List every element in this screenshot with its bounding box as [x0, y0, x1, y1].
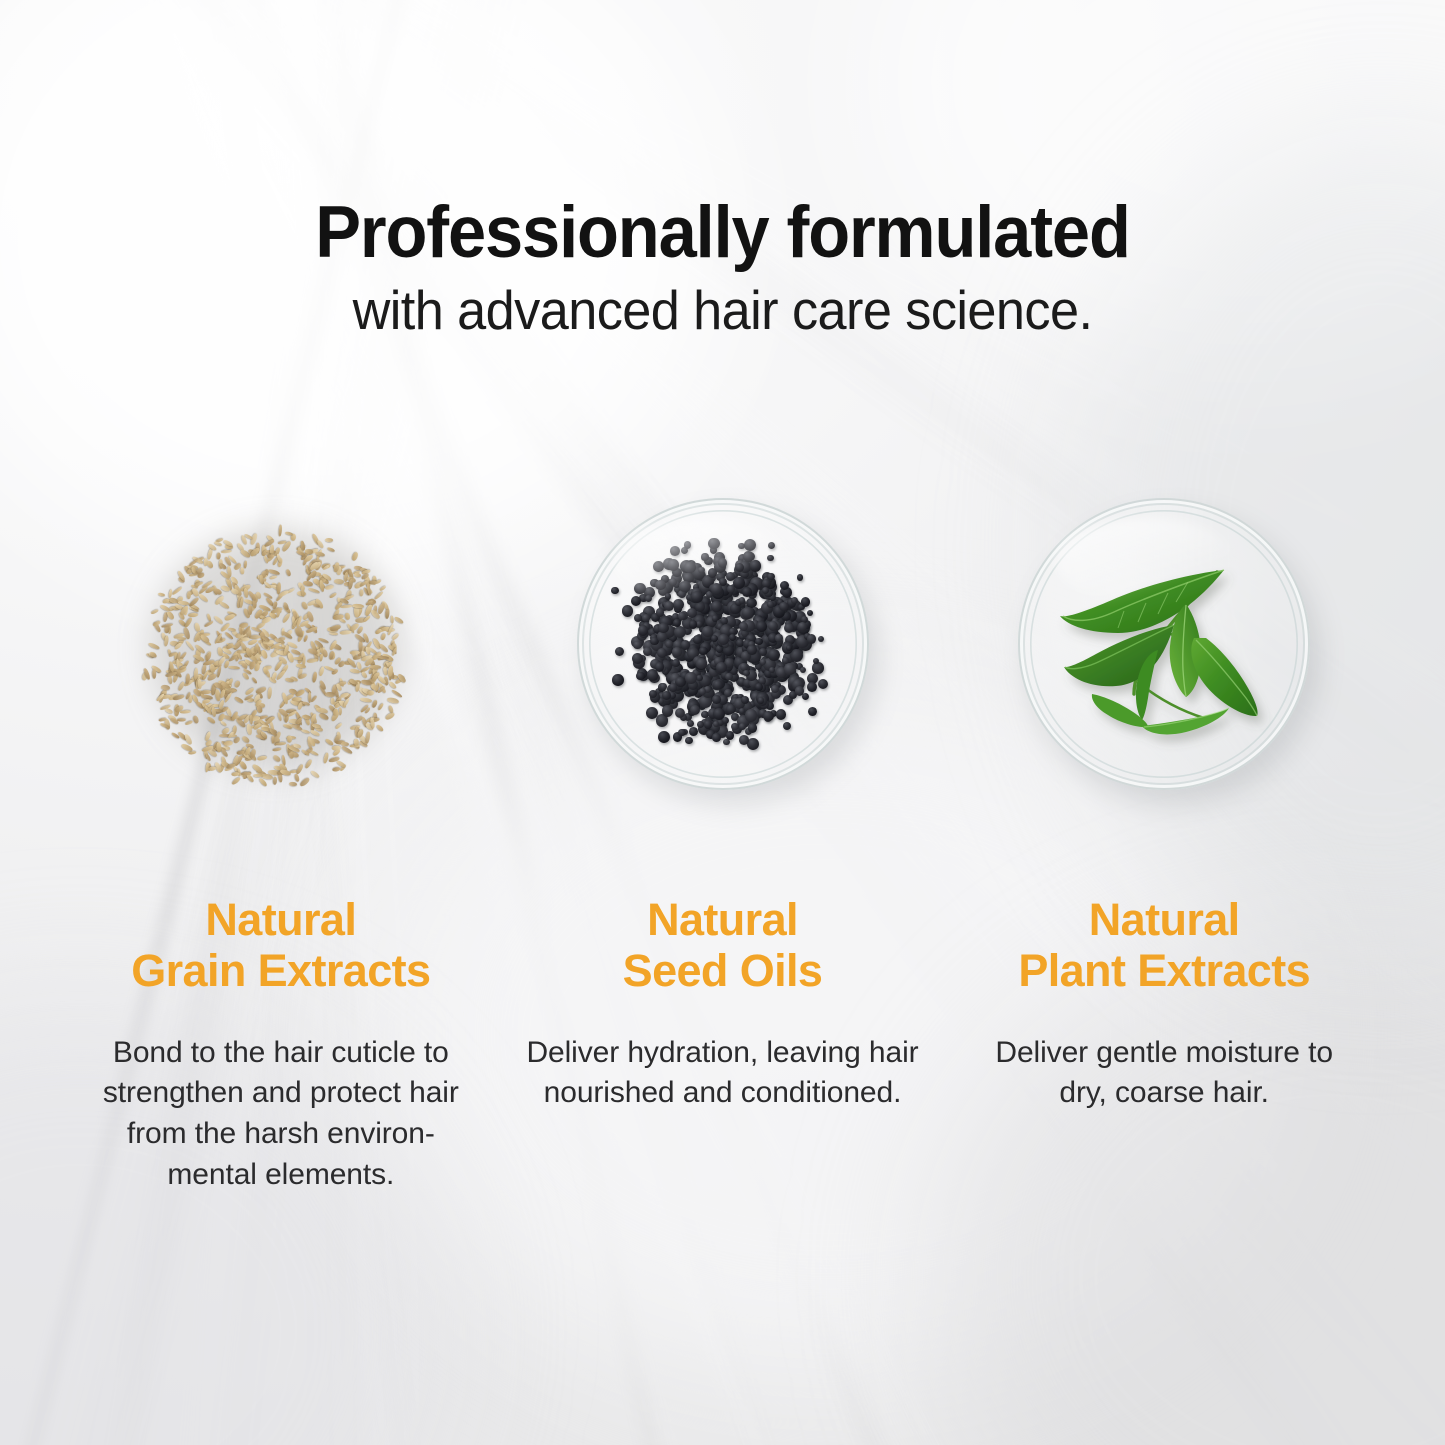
black-seed — [690, 705, 700, 715]
black-seed — [681, 547, 688, 554]
grain-kernel — [327, 546, 336, 552]
black-seed — [767, 555, 774, 562]
black-seed — [759, 648, 767, 656]
grain-kernel — [377, 703, 384, 711]
grain-kernel — [275, 741, 286, 745]
black-seed — [745, 709, 758, 722]
grain-kernel — [234, 680, 241, 688]
grain-kernel — [287, 652, 295, 663]
black-seed — [674, 626, 686, 638]
black-seed — [738, 543, 745, 550]
grain-kernel — [329, 632, 339, 636]
black-seed — [669, 578, 677, 586]
grain-kernel — [228, 627, 237, 632]
black-seed — [742, 587, 752, 597]
grain-kernel — [316, 539, 324, 548]
black-seed — [685, 672, 697, 684]
grain-kernel — [166, 610, 176, 620]
column-body-line: strengthen and protect hair — [103, 1076, 459, 1109]
black-seed — [779, 602, 789, 612]
grain-kernel — [379, 585, 387, 592]
grain-kernel — [257, 755, 268, 761]
black-seed — [767, 573, 774, 580]
black-seed — [658, 731, 670, 743]
black-seed — [771, 685, 779, 693]
black-seed — [784, 663, 796, 675]
product-feature-banner: Professionally formulated with advanced … — [0, 0, 1445, 1445]
grain-kernel — [359, 590, 364, 598]
black-seed — [747, 738, 759, 750]
black-seed — [742, 607, 754, 619]
grain-kernel — [363, 615, 371, 623]
black-seed — [696, 658, 707, 669]
black-seed — [693, 635, 702, 644]
grain-kernel — [213, 615, 224, 626]
grain-kernel — [158, 592, 166, 597]
grain-kernel — [301, 600, 309, 609]
grain-kernel — [323, 753, 329, 764]
black-seed — [818, 636, 824, 642]
grain-kernel — [288, 781, 297, 786]
black-seed — [662, 705, 674, 717]
black-seed — [760, 659, 766, 665]
grain-kernel — [268, 568, 280, 575]
grain-kernel — [228, 666, 240, 671]
black-seed — [711, 583, 722, 594]
headline-primary: Professionally formulated — [43, 196, 1401, 269]
black-seed — [615, 647, 624, 656]
column-body-line: dry, coarse hair. — [1059, 1076, 1269, 1109]
grain-kernel — [224, 741, 233, 747]
black-seed — [758, 697, 764, 703]
grain-kernel — [180, 743, 193, 753]
grain-kernel — [219, 601, 230, 610]
black-seed — [768, 542, 775, 549]
black-seed — [636, 672, 645, 681]
black-seed — [672, 659, 680, 667]
black-seed — [669, 683, 678, 692]
black-seed — [768, 621, 778, 631]
black-seed — [699, 688, 706, 695]
black-seed — [611, 587, 619, 595]
black-seed — [748, 723, 757, 732]
grain-kernel — [232, 736, 241, 745]
black-seed — [689, 620, 697, 628]
grain-kernel — [309, 769, 319, 778]
black-seed — [678, 729, 686, 737]
column-body-line: from the harsh environ- — [127, 1117, 435, 1150]
grain-kernel — [301, 729, 311, 735]
black-seed — [768, 649, 780, 661]
black-seed — [708, 538, 719, 549]
black-seed — [723, 739, 729, 745]
black-seed — [612, 674, 624, 686]
column-heading-line2: Plant Extracts — [1018, 945, 1310, 996]
black-seed — [762, 587, 769, 594]
grain-kernel — [308, 692, 311, 703]
grain-kernel — [369, 665, 381, 669]
grain-kernel — [394, 616, 404, 625]
black-seed — [739, 597, 746, 604]
plant-extracts-petri-dish-image — [1018, 498, 1310, 790]
grain-kernel — [169, 717, 179, 725]
black-seed — [662, 691, 671, 700]
black-seed — [713, 721, 719, 727]
grain-kernel — [325, 691, 335, 696]
black-seed — [755, 683, 763, 691]
black-seed — [775, 634, 782, 641]
grain-kernel — [171, 586, 183, 596]
black-seed — [731, 723, 738, 730]
black-seed — [798, 622, 807, 631]
grain-kernel — [186, 591, 191, 599]
grain-kernel — [319, 653, 324, 662]
black-seed — [681, 640, 691, 650]
black-seed — [756, 621, 767, 632]
grain-kernel — [329, 624, 341, 632]
column-body-seed-oils: Deliver hydration, leaving hair nourishe… — [526, 1033, 918, 1115]
black-seed — [807, 682, 817, 692]
tea-leaves — [1018, 498, 1310, 790]
grain-kernel — [308, 587, 321, 594]
grain-kernel — [251, 677, 258, 685]
black-seed — [684, 562, 695, 573]
black-seed — [704, 720, 712, 728]
black-seed — [739, 735, 749, 745]
grain-kernel — [204, 620, 214, 628]
black-seed — [722, 717, 729, 724]
black-seed — [656, 608, 665, 617]
black-seed — [783, 722, 791, 730]
grain-kernel — [333, 579, 343, 584]
grain-kernel — [160, 684, 170, 690]
grain-kernel — [339, 630, 351, 636]
column-heading-grain-extracts: Natural Grain Extracts — [131, 894, 430, 997]
grain-kernel — [230, 776, 240, 786]
grain-kernel — [192, 715, 199, 724]
black-seed — [712, 733, 721, 742]
grain-kernel — [387, 697, 400, 704]
black-seed — [660, 683, 667, 690]
black-seed — [800, 667, 806, 673]
black-seed — [678, 612, 686, 620]
column-body-line: nourished and conditioned. — [544, 1076, 902, 1109]
black-seed — [784, 623, 794, 633]
grain-kernel — [360, 697, 373, 703]
black-seed — [634, 583, 646, 595]
feature-column-seed-oils: Natural Seed Oils Deliver hydration, lea… — [502, 498, 944, 1196]
grain-kernel — [224, 613, 236, 622]
black-seed — [812, 662, 823, 673]
column-body-plant-extracts: Deliver gentle moisture to dry, coarse h… — [995, 1033, 1333, 1115]
black-seed — [712, 615, 719, 622]
grain-kernel — [376, 724, 385, 732]
grain-kernel — [288, 736, 293, 743]
black-seed — [689, 727, 698, 736]
grain-kernel — [339, 707, 343, 716]
black-seed — [699, 647, 708, 656]
grain-kernel — [340, 605, 352, 609]
black-seed — [718, 558, 728, 568]
column-heading-line2: Seed Oils — [623, 945, 823, 996]
grain-kernel — [304, 548, 313, 553]
seed-oils-petri-dish-image — [577, 498, 869, 790]
grain-kernel — [237, 649, 246, 653]
column-heading-line1: Natural — [205, 894, 356, 945]
column-heading-seed-oils: Natural Seed Oils — [623, 894, 823, 997]
black-seed — [801, 597, 810, 606]
grain-kernel — [296, 663, 307, 668]
grain-kernel — [185, 720, 194, 726]
grain-kernel — [281, 612, 290, 623]
grain-kernel — [248, 605, 252, 615]
black-seed — [733, 577, 745, 589]
black-seed — [807, 634, 816, 643]
black-seed — [675, 708, 685, 718]
grain-kernel — [164, 635, 169, 646]
black-seed — [750, 560, 761, 571]
grain-kernel — [148, 642, 161, 651]
grain-kernel — [325, 584, 335, 590]
grain-kernel — [351, 551, 358, 561]
column-body-line: Deliver hydration, leaving hair — [526, 1036, 918, 1069]
black-seeds — [577, 498, 869, 790]
black-seed — [631, 596, 641, 606]
grain-kernel — [221, 549, 232, 553]
grain-kernel — [241, 735, 250, 744]
grain-kernel — [282, 602, 289, 611]
black-seed — [698, 567, 704, 573]
feature-column-plant-extracts: Natural Plant Extracts Deliver gentle mo… — [943, 498, 1385, 1196]
grain-kernel — [307, 658, 318, 663]
grain-kernel — [380, 633, 386, 641]
grain-kernel — [220, 720, 228, 727]
grain-kernel — [261, 650, 269, 660]
grain-kernel — [233, 695, 244, 704]
grain-kernel — [273, 776, 277, 784]
column-heading-line2: Grain Extracts — [131, 945, 430, 996]
grain-kernel — [286, 569, 292, 577]
black-seed — [797, 574, 803, 580]
grain-kernel — [385, 712, 396, 721]
black-seed — [655, 580, 666, 591]
grain-kernel — [305, 759, 313, 769]
black-seed — [744, 539, 756, 551]
grain-kernel — [325, 538, 333, 542]
grain-kernel — [284, 677, 294, 683]
grain-kernel — [325, 738, 334, 746]
black-seed — [658, 623, 669, 634]
black-seed — [780, 581, 789, 590]
column-body-line: Deliver gentle moisture to — [995, 1036, 1333, 1069]
grain-kernel — [311, 671, 317, 683]
black-seed — [679, 581, 690, 592]
headline-block: Professionally formulated with advanced … — [0, 196, 1445, 338]
black-seed — [673, 599, 684, 610]
grain-kernel — [272, 754, 281, 763]
grain-kernel — [207, 716, 216, 724]
grain-kernel — [335, 722, 343, 729]
grain-kernel — [271, 748, 281, 752]
grain-kernel — [365, 732, 371, 745]
black-seed — [673, 619, 681, 627]
black-seed — [807, 610, 813, 616]
grain-kernel — [239, 597, 244, 609]
grain-kernel — [295, 763, 304, 775]
grain-kernel — [299, 777, 311, 788]
black-seed — [808, 707, 817, 716]
black-seed — [638, 625, 648, 635]
grain-kernel — [253, 774, 263, 777]
black-seed — [664, 601, 674, 611]
grain-kernel — [361, 670, 368, 678]
black-seed — [670, 546, 680, 556]
black-seed — [708, 568, 717, 577]
black-seed — [655, 662, 664, 671]
black-seed — [818, 679, 828, 689]
grain-kernel — [243, 561, 248, 570]
black-seed — [712, 695, 721, 704]
column-heading-line1: Natural — [1089, 894, 1240, 945]
black-seed — [743, 670, 750, 677]
black-seed — [696, 675, 703, 682]
grain-kernel — [184, 617, 193, 628]
grain-kernel — [332, 767, 341, 773]
black-seed — [691, 591, 703, 603]
black-seed — [725, 673, 733, 681]
black-seed — [802, 693, 809, 700]
grain-pile-image — [135, 498, 427, 790]
black-seed — [653, 561, 664, 572]
column-heading-line1: Natural — [647, 894, 798, 945]
column-body-line: mental elements. — [167, 1158, 394, 1191]
tea-leaves-svg — [1018, 498, 1310, 790]
black-seed — [642, 614, 650, 622]
black-seed — [633, 641, 641, 649]
column-heading-plant-extracts: Natural Plant Extracts — [1018, 894, 1310, 997]
black-seed — [776, 709, 786, 719]
black-seed — [755, 638, 763, 646]
grain-kernel — [151, 608, 159, 614]
grain-kernel — [324, 664, 336, 671]
black-seed — [622, 605, 634, 617]
grain-kernel — [269, 575, 278, 580]
black-seed — [643, 647, 652, 656]
black-seed — [646, 707, 658, 719]
grain-kernel — [366, 690, 374, 696]
column-body-grain-extracts: Bond to the hair cuticle to strengthen a… — [103, 1033, 459, 1196]
grain-kernel — [278, 524, 282, 537]
grain-kernel — [252, 763, 264, 773]
black-seed — [668, 559, 679, 570]
black-seed — [645, 595, 653, 603]
grain-kernel — [301, 714, 310, 719]
grain-kernel — [374, 590, 385, 600]
feature-columns: Natural Grain Extracts Bond to the hair … — [60, 498, 1385, 1196]
black-seed — [665, 593, 672, 600]
grain-kernel — [178, 600, 190, 605]
black-seed — [763, 711, 773, 721]
grain-kernel — [345, 612, 351, 620]
grain-kernel — [198, 592, 209, 602]
column-body-line: Bond to the hair cuticle to — [113, 1036, 449, 1069]
grain-kernel — [205, 753, 212, 762]
headline-secondary: with advanced hair care science. — [36, 283, 1409, 338]
black-seed — [685, 737, 693, 745]
feature-column-grain-extracts: Natural Grain Extracts Bond to the hair … — [60, 498, 502, 1196]
black-seed — [711, 601, 721, 611]
black-seed — [716, 662, 727, 673]
grain-kernels — [139, 520, 411, 792]
grain-kernel — [371, 700, 378, 709]
grain-kernel — [267, 687, 272, 699]
grain-kernel — [303, 634, 309, 642]
grain-kernel — [385, 608, 390, 619]
black-seed — [672, 647, 682, 657]
black-seed — [701, 553, 708, 560]
grain-kernel — [161, 598, 169, 605]
